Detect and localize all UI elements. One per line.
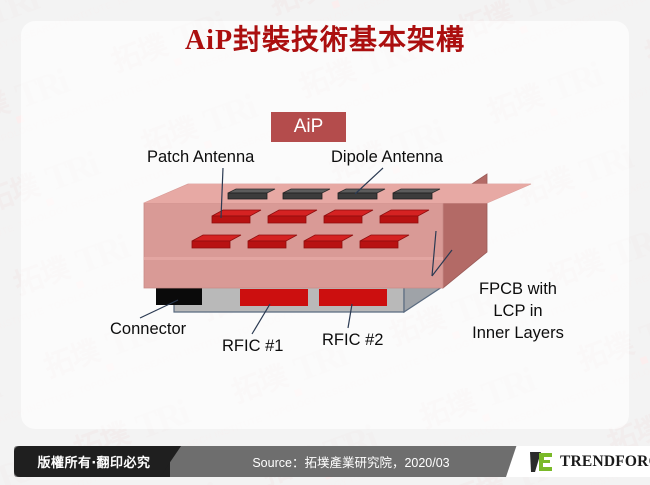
leader-rfic-1 bbox=[252, 304, 270, 334]
leader-lines bbox=[0, 0, 650, 485]
trendforce-mark-icon bbox=[530, 452, 556, 472]
leader-patch-antenna bbox=[221, 168, 223, 218]
leader-fpcb-bottom bbox=[432, 250, 452, 276]
leader-rfic-2 bbox=[348, 304, 352, 328]
leader-fpcb-top bbox=[432, 231, 436, 276]
trendforce-logo: TRENDFORCE bbox=[528, 446, 650, 477]
leader-connector bbox=[140, 300, 178, 318]
trendforce-wordmark: TRENDFORCE bbox=[560, 453, 650, 471]
footer-copyright-text: 版權所有‧翻印必究 bbox=[24, 446, 164, 477]
footer-source-text: Source：拓墣產業研究院，2020/03 bbox=[196, 446, 506, 477]
slide-canvas: 拓墣TRiTOPOLOGY RESEARCH INSTITUTE拓墣TRiTOP… bbox=[0, 0, 650, 485]
leader-dipole-antenna bbox=[355, 168, 383, 194]
footer: 版權所有‧翻印必究 Source：拓墣產業研究院，2020/03 TRENDFO… bbox=[0, 438, 650, 485]
